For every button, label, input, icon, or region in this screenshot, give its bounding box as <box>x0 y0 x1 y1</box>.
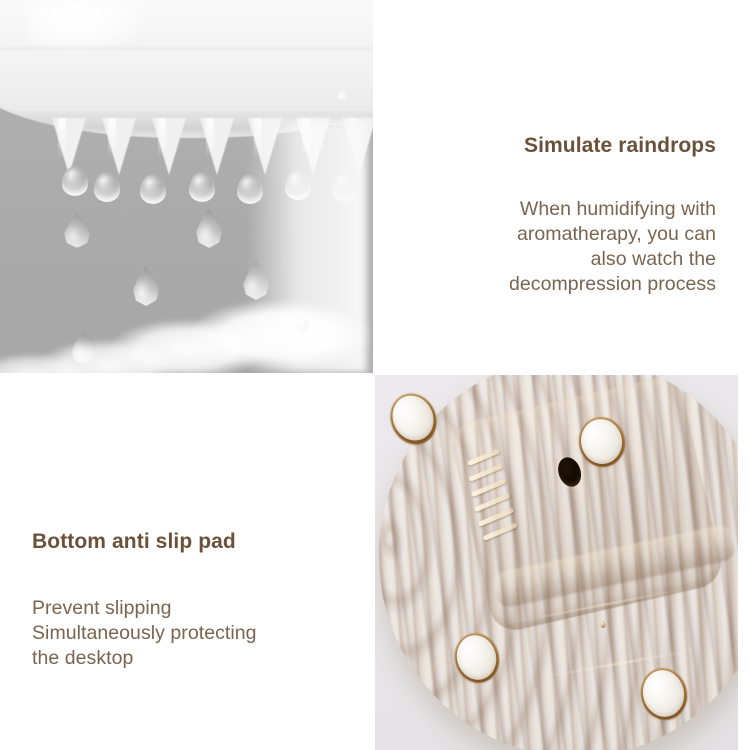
raindrop-photo <box>0 0 373 373</box>
feature-body-bottom-anti-slip-pad: Prevent slipping Simultaneously protecti… <box>32 596 352 671</box>
hanging-droplet <box>140 174 166 204</box>
feature-body-line: Prevent slipping <box>32 596 352 621</box>
hanging-droplet <box>62 166 88 196</box>
vent-slit <box>483 522 518 541</box>
mist-bubble <box>338 92 347 101</box>
body-seam-line <box>0 46 373 49</box>
feature-text-bottom-anti-slip-pad: Bottom anti slip pad Prevent slipping Si… <box>32 528 352 671</box>
feature-body-line: the desktop <box>32 646 352 671</box>
droplet-tooth <box>102 118 136 175</box>
feature-heading-simulate-raindrops: Simulate raindrops <box>398 132 716 160</box>
hanging-droplet <box>94 172 120 202</box>
droplet-tooth <box>200 118 234 175</box>
feature-body-line: also watch the <box>398 247 716 272</box>
product-feature-page: Simulate raindrops When humidifying with… <box>0 0 750 750</box>
feature-body-simulate-raindrops: When humidifying with aromatherapy, you … <box>398 197 716 297</box>
water-mist-splash <box>0 283 373 373</box>
feature-body-line: When humidifying with <box>398 197 716 222</box>
feature-text-simulate-raindrops: Simulate raindrops When humidifying with… <box>398 132 716 297</box>
hanging-droplet <box>189 172 215 202</box>
mist-bubble <box>296 318 309 331</box>
feature-body-line: aromatherapy, you can <box>398 222 716 247</box>
feature-body-line: decompression process <box>398 272 716 297</box>
feature-heading-bottom-anti-slip-pad: Bottom anti slip pad <box>32 528 352 556</box>
body-highlight <box>28 0 148 58</box>
droplet-tooth <box>152 118 186 175</box>
vent-slit <box>470 478 506 497</box>
feature-body-line: Simultaneously protecting <box>32 621 352 646</box>
vent-slit <box>468 463 503 482</box>
wood-base-photo <box>375 375 738 750</box>
